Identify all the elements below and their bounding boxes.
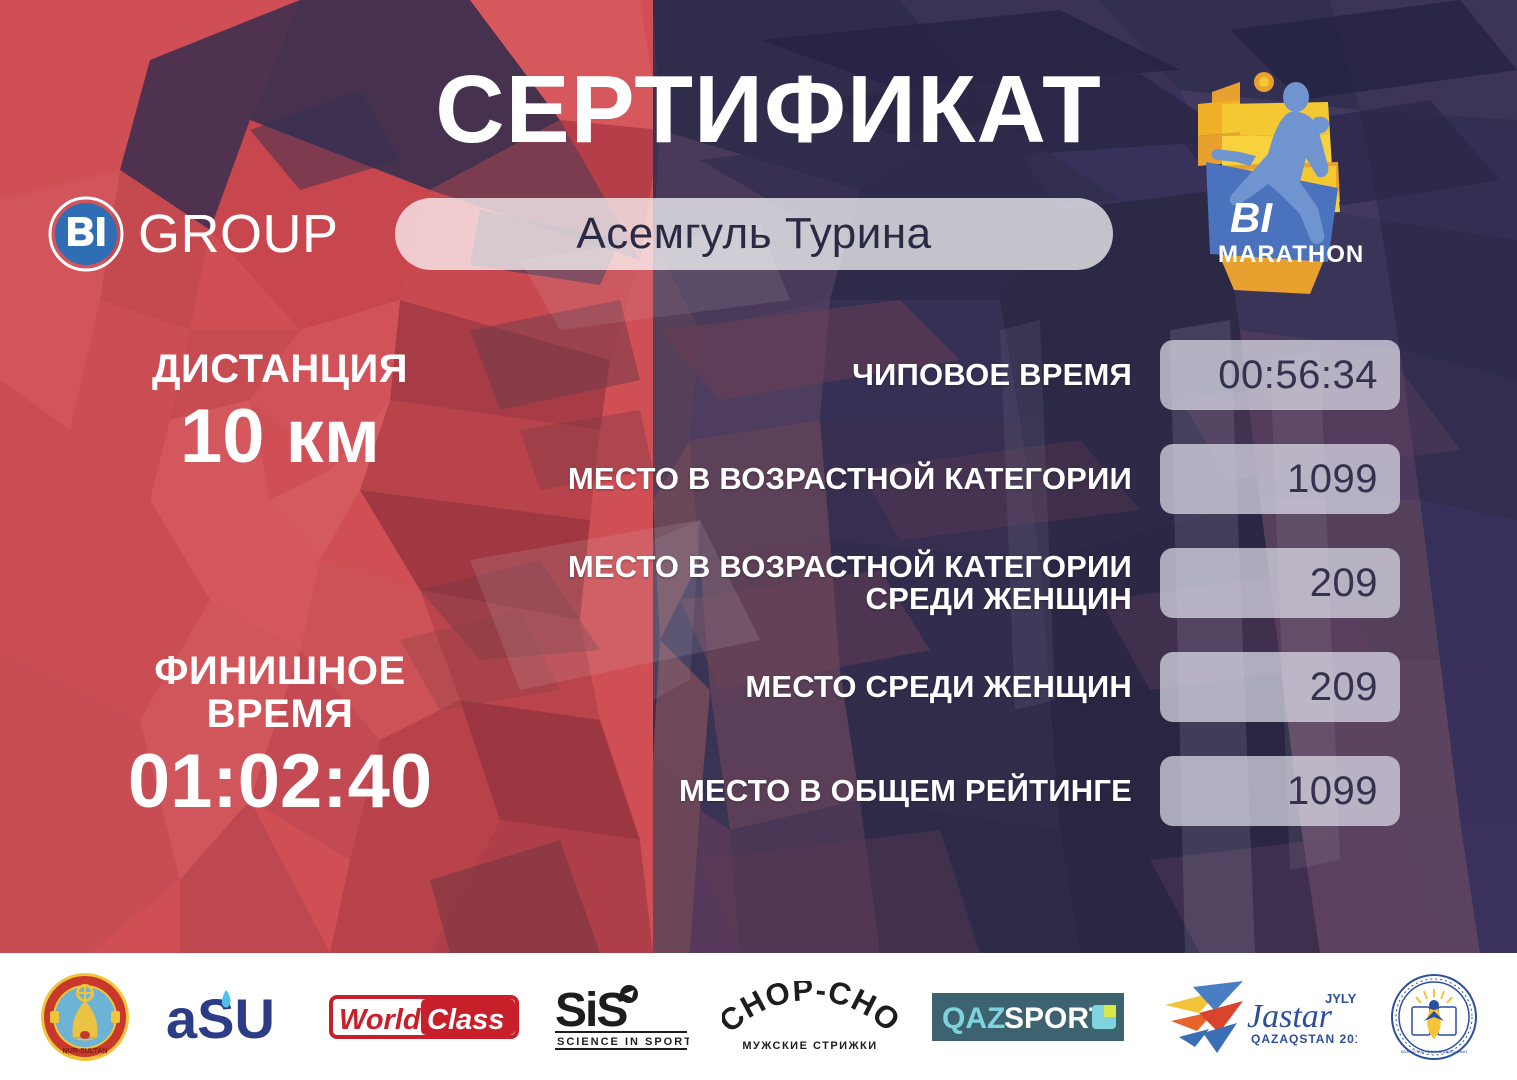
- svg-text:SPORT: SPORT: [1004, 1002, 1107, 1035]
- jastar-wordmark: Jastar: [1247, 998, 1333, 1035]
- stat-row-age-category-women-place: МЕСТО В ВОЗРАСТНОЙ КАТЕГОРИИ СРЕДИ ЖЕНЩИ…: [520, 548, 1400, 618]
- chop-chop-logo-icon: CHOP-CHOP МУЖСКИЕ СТРИЖКИ: [722, 981, 898, 1053]
- stat-value-pill: 209: [1160, 548, 1400, 618]
- stat-row-overall-place: МЕСТО В ОБЩЕМ РЕЙТИНГЕ 1099: [520, 756, 1400, 826]
- sponsor-asu: aSU: [164, 969, 296, 1065]
- finish-time-label-line2: ВРЕМЯ: [50, 693, 510, 736]
- distance-block: ДИСТАНЦИЯ 10 км: [50, 348, 510, 477]
- stat-value: 1099: [1287, 769, 1378, 814]
- jyly-superscript: JYLY: [1325, 991, 1357, 1006]
- sponsor-ministry-culture-sport: ҚАЗАҚСТАН РЕСПУБЛИКАСЫНЫҢ: [1390, 969, 1478, 1065]
- stat-label: МЕСТО В ВОЗРАСТНОЙ КАТЕГОРИИ СРЕДИ ЖЕНЩИ…: [520, 551, 1132, 615]
- sponsor-nur-sultan: NUR-SULTAN: [39, 969, 131, 1065]
- sponsor-world-class: World Class: [329, 969, 519, 1065]
- svg-text:aSU: aSU: [166, 987, 275, 1048]
- sis-tagline: SCIENCE IN SPORT: [557, 1036, 689, 1048]
- ministry-caption: ҚАЗАҚСТАН РЕСПУБЛИКАСЫНЫҢ: [1401, 1049, 1468, 1054]
- participant-name: Асемгуль Турина: [576, 209, 931, 259]
- stat-row-women-place: МЕСТО СРЕДИ ЖЕНЩИН 209: [520, 652, 1400, 722]
- finish-time-value: 01:02:40: [50, 742, 510, 822]
- participant-name-pill: Асемгуль Турина: [395, 198, 1113, 270]
- stat-value-pill: 209: [1160, 652, 1400, 722]
- certificate-root: СЕРТИФИКАТ Асемгуль Турина GROUP: [0, 0, 1517, 1080]
- asu-logo-icon: aSU: [164, 986, 296, 1048]
- svg-text:Class: Class: [427, 1004, 504, 1036]
- stat-label: ЧИПОВОЕ ВРЕМЯ: [520, 359, 1132, 391]
- stat-value: 1099: [1287, 457, 1378, 502]
- jastar-jyly-logo-icon: Jastar JYLY QAZAQSTAN 2019: [1157, 977, 1357, 1057]
- chop-chop-tagline: МУЖСКИЕ СТРИЖКИ: [743, 1040, 878, 1052]
- ministry-emblem-icon: ҚАЗАҚСТАН РЕСПУБЛИКАСЫНЫҢ: [1390, 973, 1478, 1061]
- sis-logo-icon: SiS SCIENCE IN SPORT: [553, 982, 689, 1052]
- stat-label: МЕСТО СРЕДИ ЖЕНЩИН: [520, 671, 1132, 703]
- stat-value-pill: 00:56:34: [1160, 340, 1400, 410]
- stat-value: 209: [1310, 561, 1378, 606]
- sponsor-qazsport: QAZ SPORT: [932, 969, 1124, 1065]
- svg-text:World: World: [339, 1004, 422, 1036]
- stat-row-chip-time: ЧИПОВОЕ ВРЕМЯ 00:56:34: [520, 340, 1400, 410]
- svg-text:CHOP-CHOP: CHOP-CHOP: [722, 981, 898, 1039]
- stat-row-age-category-place: МЕСТО В ВОЗРАСТНОЙ КАТЕГОРИИ 1099: [520, 444, 1400, 514]
- sponsor-chop-chop: CHOP-CHOP МУЖСКИЕ СТРИЖКИ: [722, 969, 898, 1065]
- stat-label: МЕСТО В ОБЩЕМ РЕЙТИНГЕ: [520, 775, 1132, 807]
- distance-label: ДИСТАНЦИЯ: [50, 348, 510, 391]
- nur-sultan-caption: NUR-SULTAN: [62, 1048, 107, 1055]
- stats-list: ЧИПОВОЕ ВРЕМЯ 00:56:34 МЕСТО В ВОЗРАСТНО…: [520, 340, 1400, 826]
- distance-value: 10 км: [50, 397, 510, 477]
- bi-circle-icon: [48, 196, 124, 272]
- sponsor-bar: NUR-SULTAN aSU World Class SiS: [0, 953, 1517, 1080]
- stat-label: МЕСТО В ВОЗРАСТНОЙ КАТЕГОРИИ: [520, 463, 1132, 495]
- stat-value-pill: 1099: [1160, 756, 1400, 826]
- finish-time-block: ФИНИШНОЕ ВРЕМЯ 01:02:40: [50, 650, 510, 822]
- sponsor-jastar-jyly: Jastar JYLY QAZAQSTAN 2019: [1157, 969, 1357, 1065]
- bi-group-logo: GROUP: [48, 196, 339, 272]
- stat-value: 209: [1310, 665, 1378, 710]
- sponsor-sis: SiS SCIENCE IN SPORT: [553, 969, 689, 1065]
- svg-text:SiS: SiS: [555, 984, 627, 1037]
- jastar-subcaption: QAZAQSTAN 2019: [1251, 1032, 1357, 1046]
- bi-group-wordmark: GROUP: [138, 207, 339, 261]
- world-class-logo-icon: World Class: [329, 989, 519, 1045]
- svg-text:BI: BI: [1230, 194, 1273, 241]
- stat-value: 00:56:34: [1218, 353, 1378, 398]
- svg-text:QAZ: QAZ: [942, 1002, 1005, 1035]
- finish-time-label-line1: ФИНИШНОЕ: [50, 650, 510, 693]
- bi-marathon-logo: BI MARATHON: [1178, 62, 1378, 307]
- nur-sultan-emblem-icon: NUR-SULTAN: [39, 971, 131, 1063]
- qazsport-logo-icon: QAZ SPORT: [932, 993, 1124, 1041]
- stat-value-pill: 1099: [1160, 444, 1400, 514]
- svg-text:MARATHON: MARATHON: [1218, 241, 1364, 268]
